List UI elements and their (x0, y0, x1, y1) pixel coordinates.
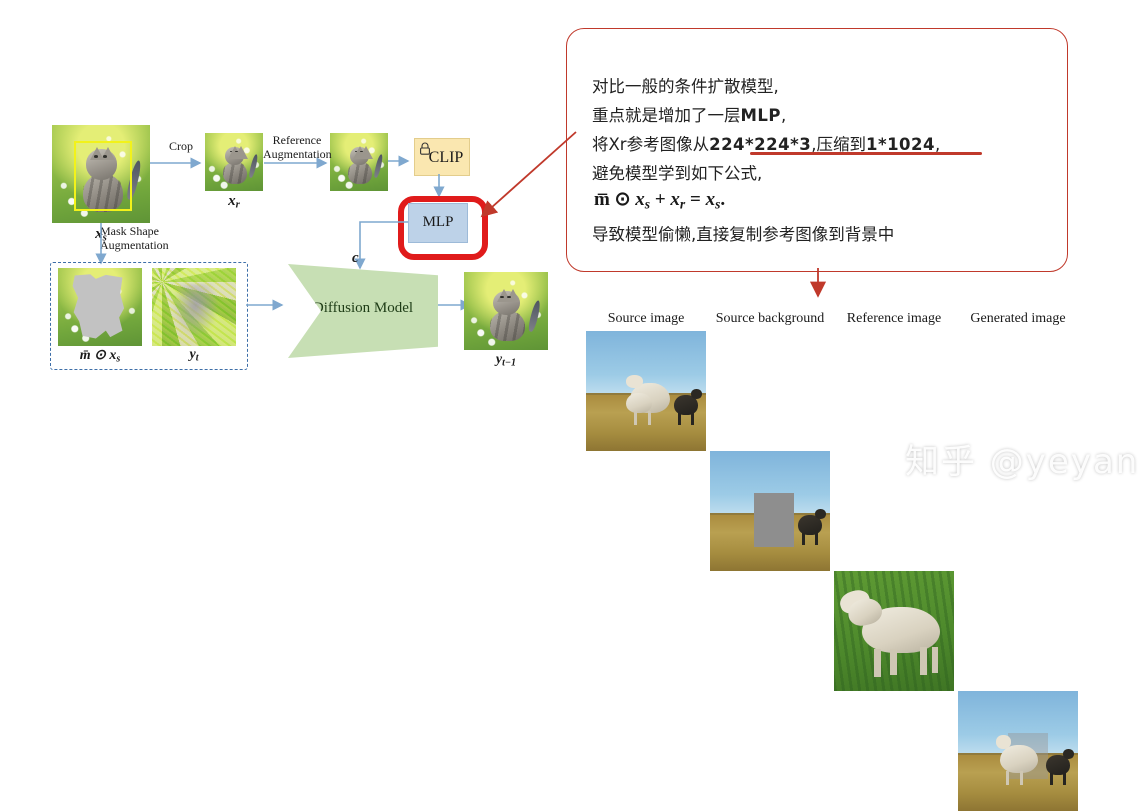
reference-augmentation-label: Reference Augmentation (263, 134, 331, 162)
masked-source-label: m̄ ⊙ xs (58, 347, 142, 365)
annotation-line-2: 重点就是增加了一层MLP, (592, 103, 786, 128)
annotation-line-2-text: 重点就是增加了一层 (592, 106, 741, 125)
result-caption-0: Source image (586, 311, 706, 327)
result-caption-2: Reference image (834, 311, 954, 327)
annotation-line-3-pre: 将Xr参考图像从 (592, 135, 709, 154)
annotation-line-4: 避免模型学到如下公式, (592, 161, 762, 186)
clip-label: CLIP (415, 149, 469, 167)
source-image-tile (52, 125, 150, 223)
condition-label: c (352, 250, 359, 267)
masked-region-box (754, 493, 794, 547)
annotation-line-2-comma: , (781, 106, 786, 125)
annotation-formula: m̅ ⊙ xs + xr = xs. (594, 188, 725, 212)
result-caption-3: Generated image (958, 311, 1078, 327)
result-source-image (586, 331, 706, 451)
watermark: 知乎 @yeyan (905, 434, 1139, 483)
mlp-label: MLP (409, 214, 467, 231)
result-reference-image (834, 571, 954, 691)
reference-image-label: xr (205, 193, 263, 211)
kitten-illustration-augmented (345, 147, 375, 185)
result-caption-1: Source background (710, 311, 830, 327)
arrow-inputs-to-diffusion (246, 302, 290, 316)
output-image-tile (464, 272, 548, 350)
mask-region (71, 274, 126, 340)
augmented-reference-tile (330, 133, 388, 191)
annotation-line-1: 对比一般的条件扩散模型, (592, 74, 779, 99)
masked-source-tile (58, 268, 142, 346)
arrow-crop (150, 160, 208, 174)
arrow-to-clip (388, 158, 416, 172)
diffusion-model-block[interactable]: Diffusion Model (288, 264, 438, 358)
mlp-block[interactable]: MLP (408, 203, 468, 243)
arrow-annotation-to-mlp (470, 128, 580, 228)
diffusion-model-label: Diffusion Model (288, 300, 438, 317)
arrow-annotation-to-results (812, 268, 832, 308)
output-image-label: yt−1 (464, 352, 548, 369)
clip-block[interactable]: CLIP (414, 138, 470, 176)
noisy-latent-label: yt (152, 347, 236, 364)
crop-bounding-box (74, 141, 132, 211)
noisy-latent-tile (152, 268, 236, 346)
annotation-red-underline (750, 152, 982, 155)
mask-shape-augmentation-label: Mask Shape Augmentation (100, 225, 182, 253)
result-generated-image (958, 691, 1078, 811)
crop-label: Crop (158, 140, 204, 154)
result-source-background (710, 451, 830, 571)
arrow-reference-augmentation (264, 160, 334, 174)
annotation-line-5: 导致模型偷懒,直接复制参考图像到背景中 (592, 222, 894, 247)
kitten-illustration-reference (220, 147, 250, 185)
reference-image-tile (205, 133, 263, 191)
annotation-mlp-emphasis: MLP (741, 106, 782, 125)
kitten-illustration-output (486, 291, 530, 342)
